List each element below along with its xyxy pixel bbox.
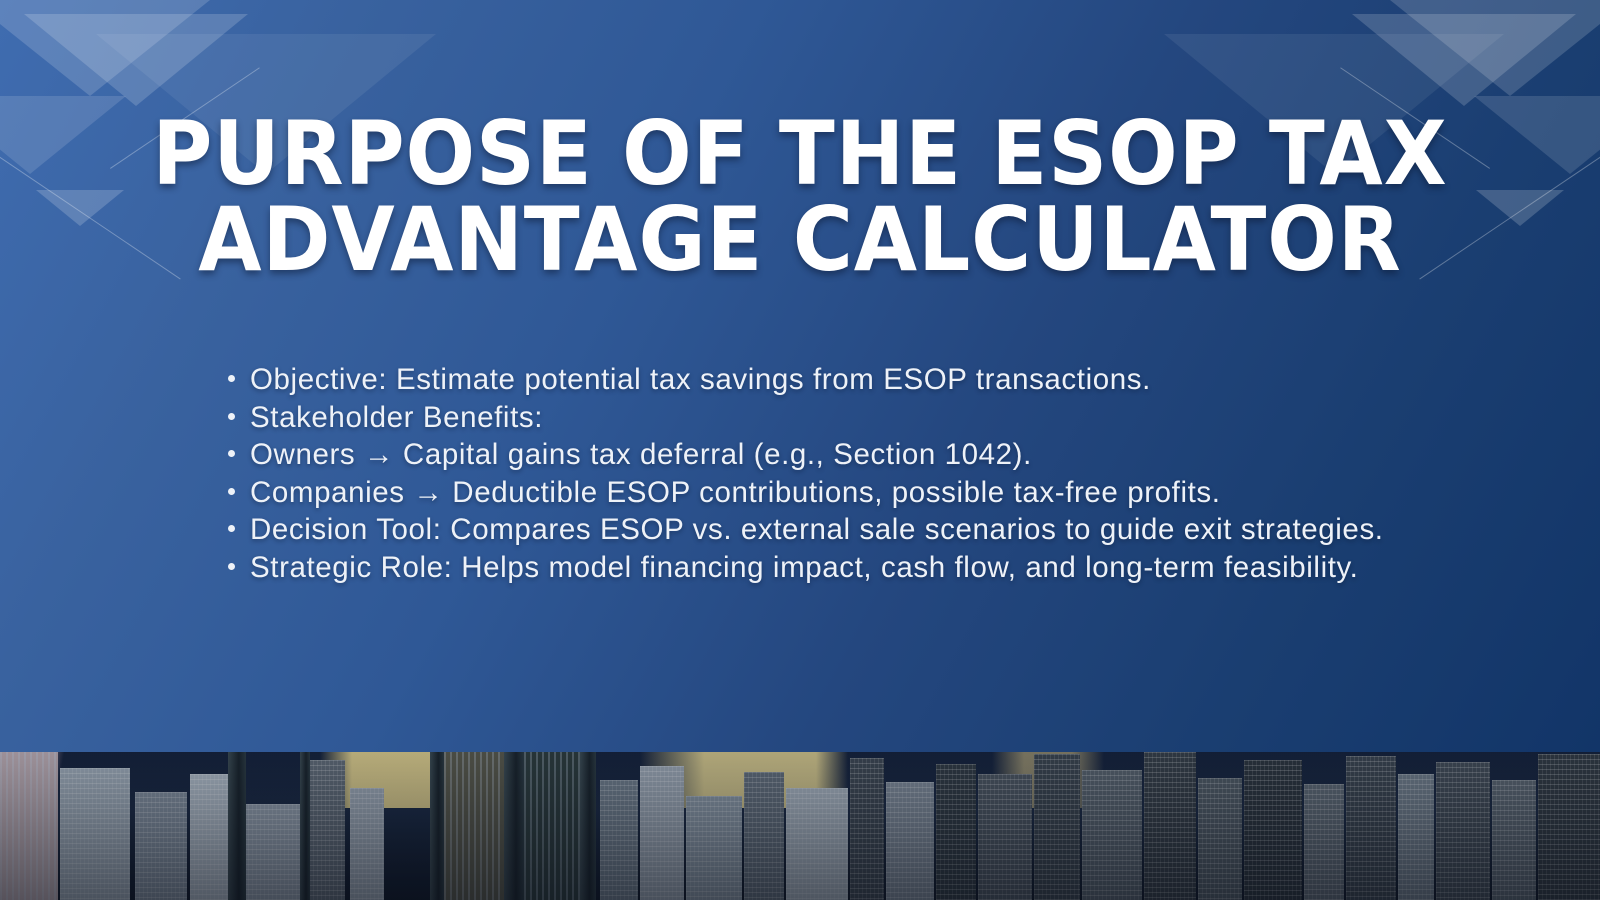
list-item: Decision Tool: Compares ESOP vs. externa… [216, 512, 1416, 549]
list-item: Companies → Deductible ESOP contribution… [216, 475, 1416, 512]
list-item-text: Strategic Role: Helps model financing im… [250, 551, 1358, 584]
list-item: Stakeholder Benefits: [216, 400, 1416, 437]
bullet-list: Objective: Estimate potential tax saving… [216, 362, 1416, 587]
content-panel: Purpose of the ESOP Tax Advantage Calcul… [0, 0, 1600, 752]
list-item-text: Decision Tool: Compares ESOP vs. externa… [250, 513, 1384, 546]
list-item-text: Owners → Capital gains tax deferral (e.g… [250, 438, 1032, 471]
decorative-triangle-tl-4 [36, 190, 124, 226]
list-item-text: Stakeholder Benefits: [250, 401, 543, 434]
list-item-text: Objective: Estimate potential tax saving… [250, 363, 1151, 396]
decorative-triangle-tr-4 [1476, 190, 1564, 226]
bullet-dot-icon [228, 488, 235, 495]
bullet-dot-icon [228, 563, 235, 570]
list-item: Objective: Estimate potential tax saving… [216, 362, 1416, 399]
city-skyline-photo [0, 752, 1600, 900]
bullet-dot-icon [228, 525, 235, 532]
list-item: Strategic Role: Helps model financing im… [216, 550, 1416, 587]
list-item-text: Companies → Deductible ESOP contribution… [250, 476, 1221, 509]
list-item: Owners → Capital gains tax deferral (e.g… [216, 437, 1416, 474]
bullet-dot-icon [228, 413, 235, 420]
slide-title: Purpose of the ESOP Tax Advantage Calcul… [140, 111, 1461, 283]
presentation-slide: Purpose of the ESOP Tax Advantage Calcul… [0, 0, 1600, 900]
photo-shading [0, 752, 1600, 900]
bullet-dot-icon [228, 375, 235, 382]
bullet-dot-icon [228, 450, 235, 457]
